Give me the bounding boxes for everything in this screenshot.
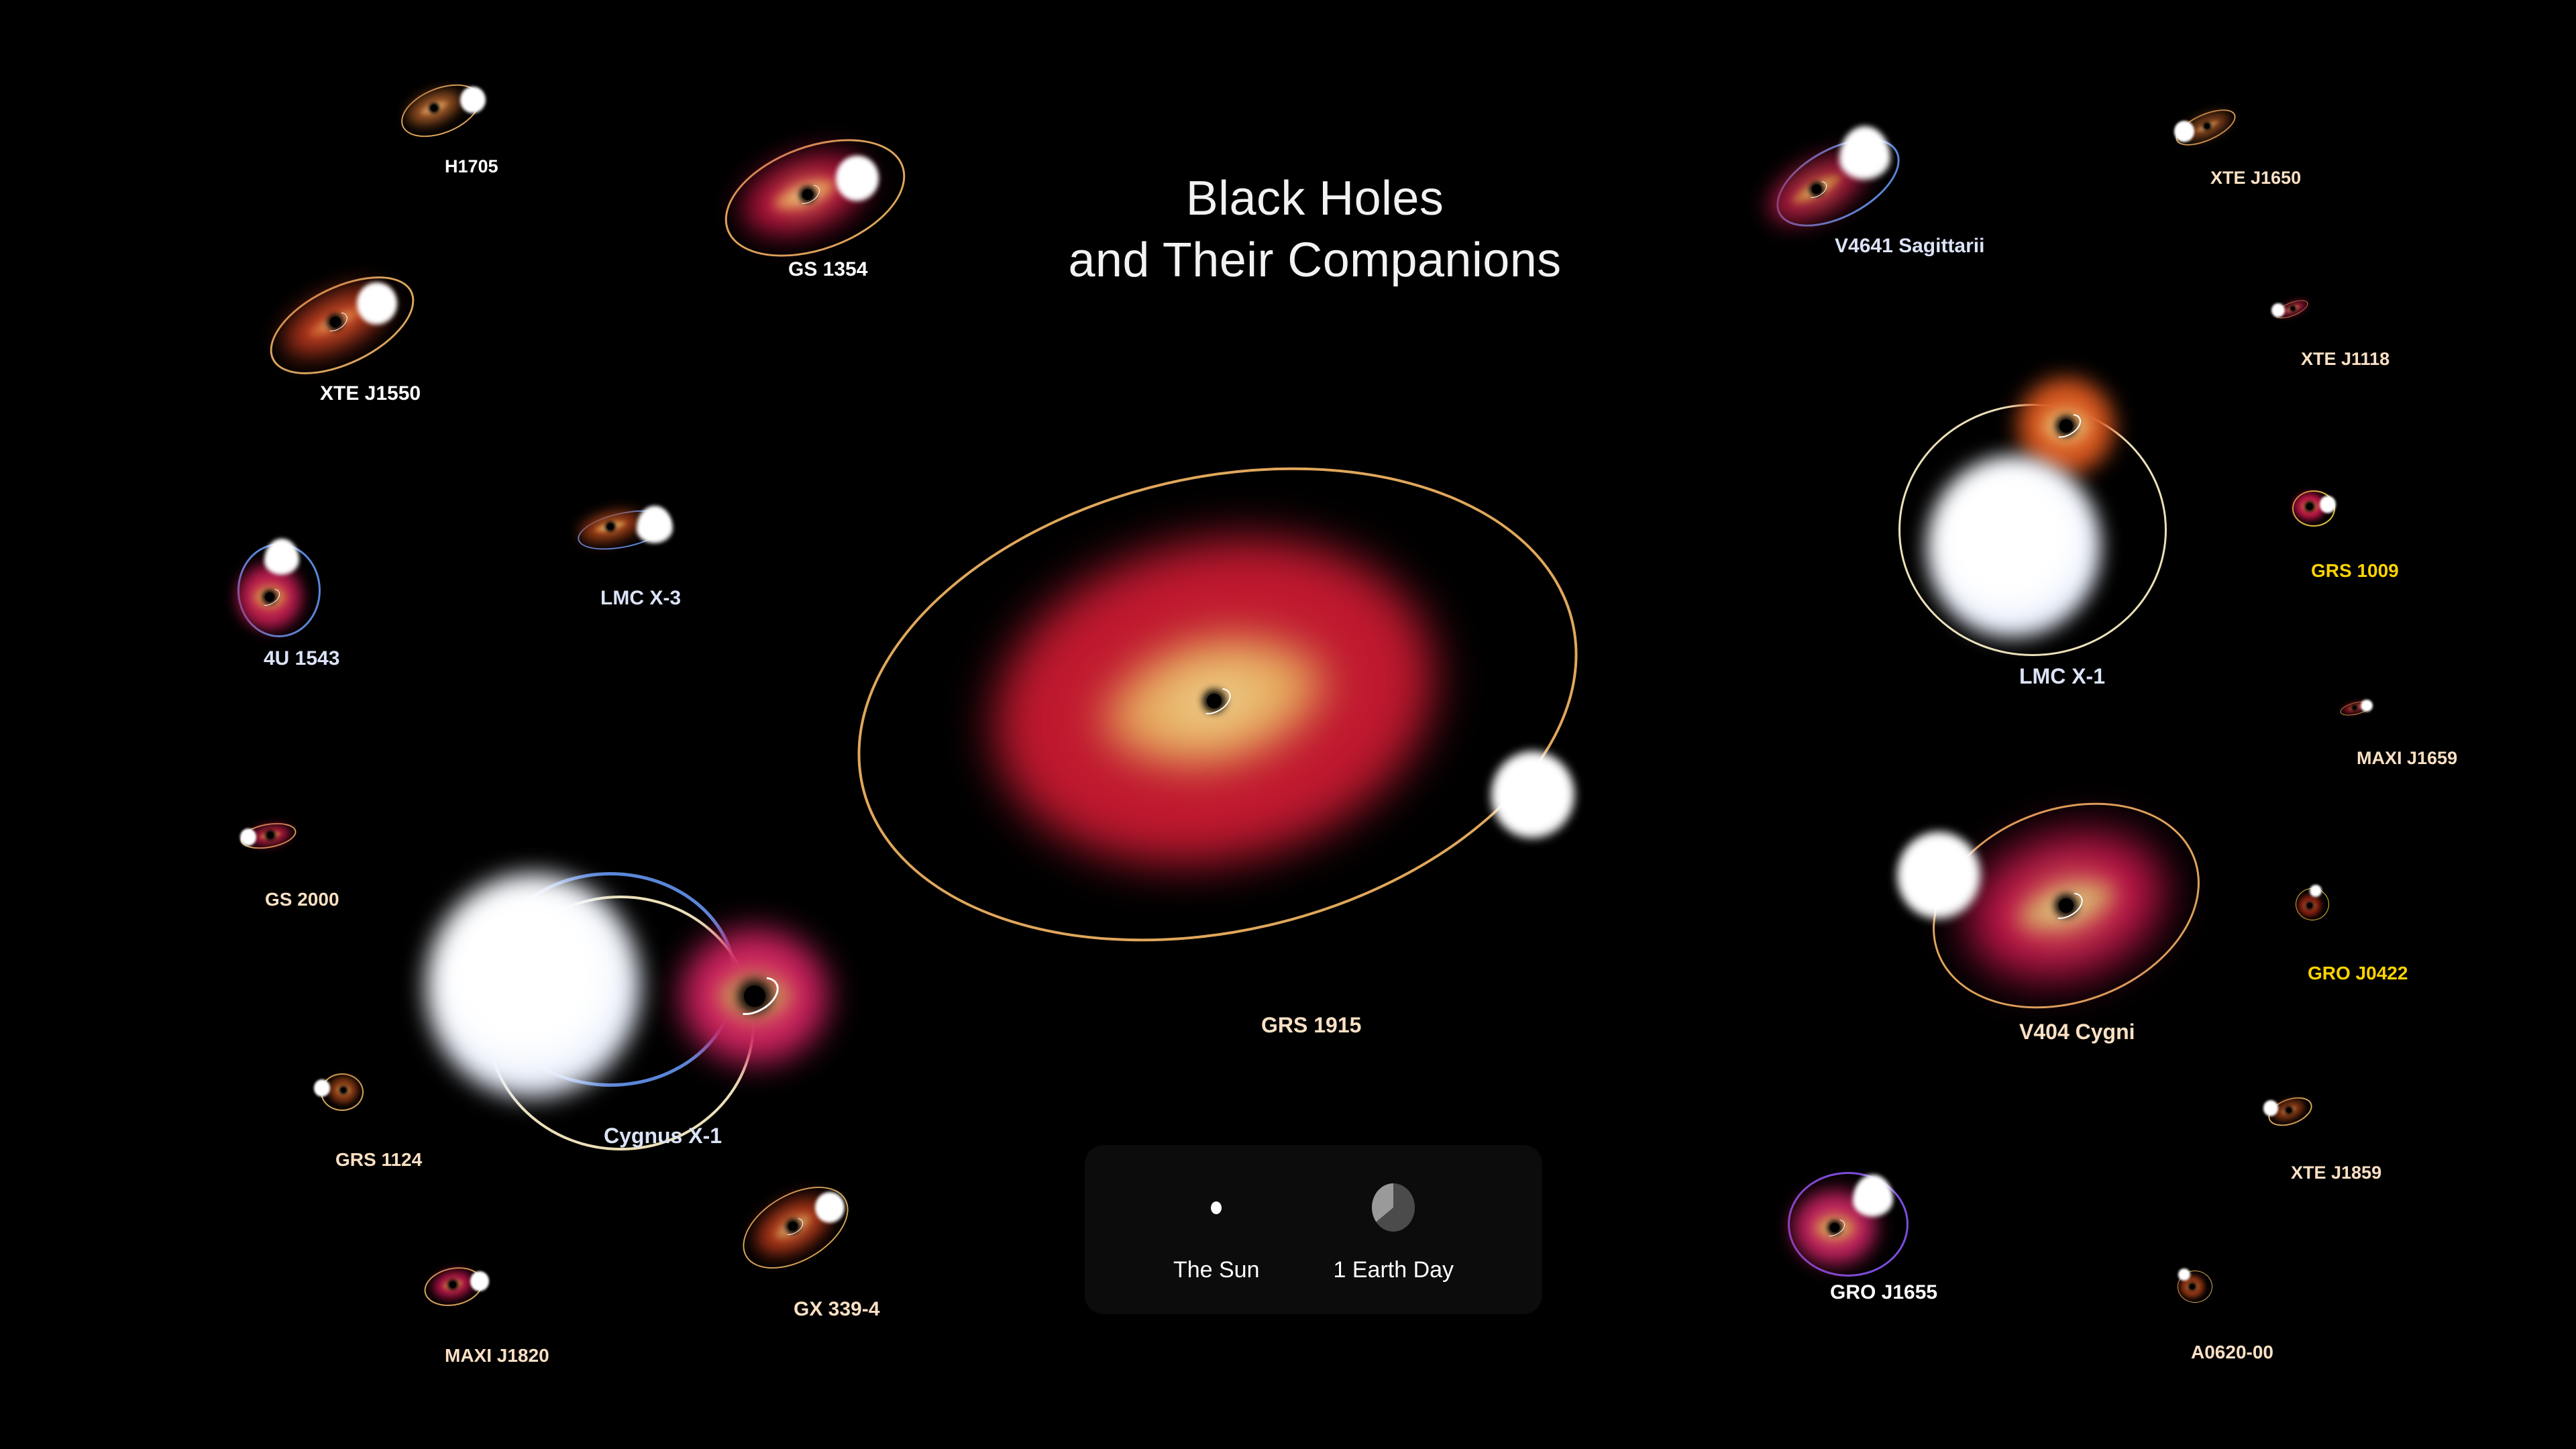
system-label-grs-1009: GRS 1009 [2311,560,2399,582]
black-hole [431,105,437,111]
system-illustration [2267,671,2455,792]
black-hole [267,832,274,839]
system-label-gs-2000: GS 2000 [265,889,339,910]
system-illustration [711,134,932,309]
system-illustration [248,268,463,436]
companion-star [240,828,256,845]
companion-star [2361,700,2373,712]
binary-system-grs-1009[interactable]: GRS 1009 [2241,470,2428,617]
companion-star [426,873,641,1099]
binary-system-gro-j1655[interactable]: GRO J1655 [1744,1154,1959,1328]
earth-day-pie-icon [1372,1167,1415,1248]
system-illustration [201,798,376,932]
system-label-maxi-j1820: MAXI J1820 [445,1345,549,1366]
system-label-gro-j0422: GRO J0422 [2308,963,2408,984]
system-label-cygnus-x-1: Cygnus X-1 [604,1124,722,1148]
sun-dot-icon-shape [1211,1201,1222,1214]
companion-star [264,539,299,576]
system-label-xte-j1650: XTE J1650 [2210,168,2301,189]
legend-label: The Sun [1173,1257,1260,1283]
companion-star [637,506,673,544]
binary-system-grs-1124[interactable]: GRS 1124 [268,1053,443,1187]
binary-system-xte-j1650[interactable]: XTE J1650 [2140,94,2314,215]
system-illustration [818,470,1731,1073]
black-hole [2353,706,2357,710]
system-label-grs-1915: GRS 1915 [1261,1013,1361,1038]
page-title: Black Holes and Their Companions [1033,168,1597,291]
binary-system-4u-1543[interactable]: 4U 1543 [201,510,402,698]
companion-star [815,1192,845,1223]
companion-star [2174,121,2194,142]
binary-system-v404-cygni[interactable]: V404 Cygni [1865,792,2281,1060]
binary-system-h1705[interactable]: H1705 [366,77,527,191]
system-illustration [2214,1073,2402,1207]
companion-star [2271,303,2285,317]
black-hole [2291,307,2295,311]
black-hole [2307,903,2312,908]
binary-system-gs-1354[interactable]: GS 1354 [711,134,932,309]
system-illustration [2241,470,2428,617]
companion-star [460,87,486,113]
starfield-canvas: Black Holes and Their Companions H1705GS… [0,0,2576,1449]
binary-system-gx-339-4[interactable]: GX 339-4 [711,1167,912,1342]
companion-star [1897,832,1980,919]
companion-star [1839,126,1890,180]
system-label-gx-339-4: GX 339-4 [794,1298,879,1321]
companion-star [1927,455,2101,639]
black-hole [2286,1108,2292,1113]
legend-item-sun: The Sun [1173,1145,1260,1314]
sun-dot-icon [1211,1167,1222,1248]
system-label-v4641-sagittarii: V4641 Sagittarii [1835,235,1984,258]
system-illustration [543,490,745,637]
companion-star [314,1079,330,1096]
binary-system-grs-1915[interactable]: GRS 1915 [818,470,1731,1073]
binary-system-gs-2000[interactable]: GS 2000 [201,798,376,932]
earth-day-pie-icon-shape [1372,1183,1415,1232]
system-label-gs-1354: GS 1354 [788,258,867,281]
system-label-gro-j1655: GRO J1655 [1830,1281,1937,1304]
system-label-h1705: H1705 [445,156,498,177]
black-hole [449,1281,456,1288]
black-hole [2204,123,2210,129]
companion-star [357,282,397,325]
companion-star [1491,751,1574,839]
system-label-xte-j1118: XTE J1118 [2301,349,2390,370]
binary-system-gro-j0422[interactable]: GRO J0422 [2241,865,2428,1020]
companion-star [2263,1100,2278,1116]
black-hole [2190,1284,2195,1289]
scale-legend: The Sun1 Earth Day [1085,1145,1542,1314]
system-illustration [2140,94,2314,215]
system-label-lmc-x-1: LMC X-1 [2019,664,2105,689]
binary-system-cygnus-x-1[interactable]: Cygnus X-1 [389,738,885,1167]
black-hole [341,1087,346,1093]
black-hole [607,523,614,530]
system-label-grs-1124: GRS 1124 [335,1149,422,1171]
binary-system-maxi-j1820[interactable]: MAXI J1820 [376,1248,577,1382]
binary-system-lmc-x-1[interactable]: LMC X-1 [1865,362,2294,738]
system-label-xte-j1859: XTE J1859 [2291,1163,2381,1183]
binary-system-a0620-00[interactable]: A0620-00 [2120,1248,2321,1382]
binary-system-v4641-sagittarii[interactable]: V4641 Sagittarii [1737,107,1979,282]
system-illustration [2241,865,2428,1020]
system-label-xte-j1550: XTE J1550 [320,382,421,405]
system-label-lmc-x-3: LMC X-3 [600,587,681,610]
companion-star [836,156,879,201]
binary-system-xte-j1859[interactable]: XTE J1859 [2214,1073,2402,1207]
companion-star [2320,496,2336,513]
black-hole [2306,503,2313,510]
legend-item-earth-day: 1 Earth Day [1334,1145,1454,1314]
binary-system-lmc-x-3[interactable]: LMC X-3 [543,490,745,637]
system-label-4u-1543: 4U 1543 [264,647,339,670]
system-label-a0620-00: A0620-00 [2191,1342,2273,1363]
companion-star [470,1271,489,1291]
binary-system-xte-j1550[interactable]: XTE J1550 [248,268,463,436]
binary-system-maxi-j1659[interactable]: MAXI J1659 [2267,671,2455,792]
system-label-v404-cygni: V404 Cygni [2019,1020,2135,1044]
legend-label: 1 Earth Day [1334,1257,1454,1283]
system-illustration [389,738,885,1167]
system-label-maxi-j1659: MAXI J1659 [2357,748,2457,769]
